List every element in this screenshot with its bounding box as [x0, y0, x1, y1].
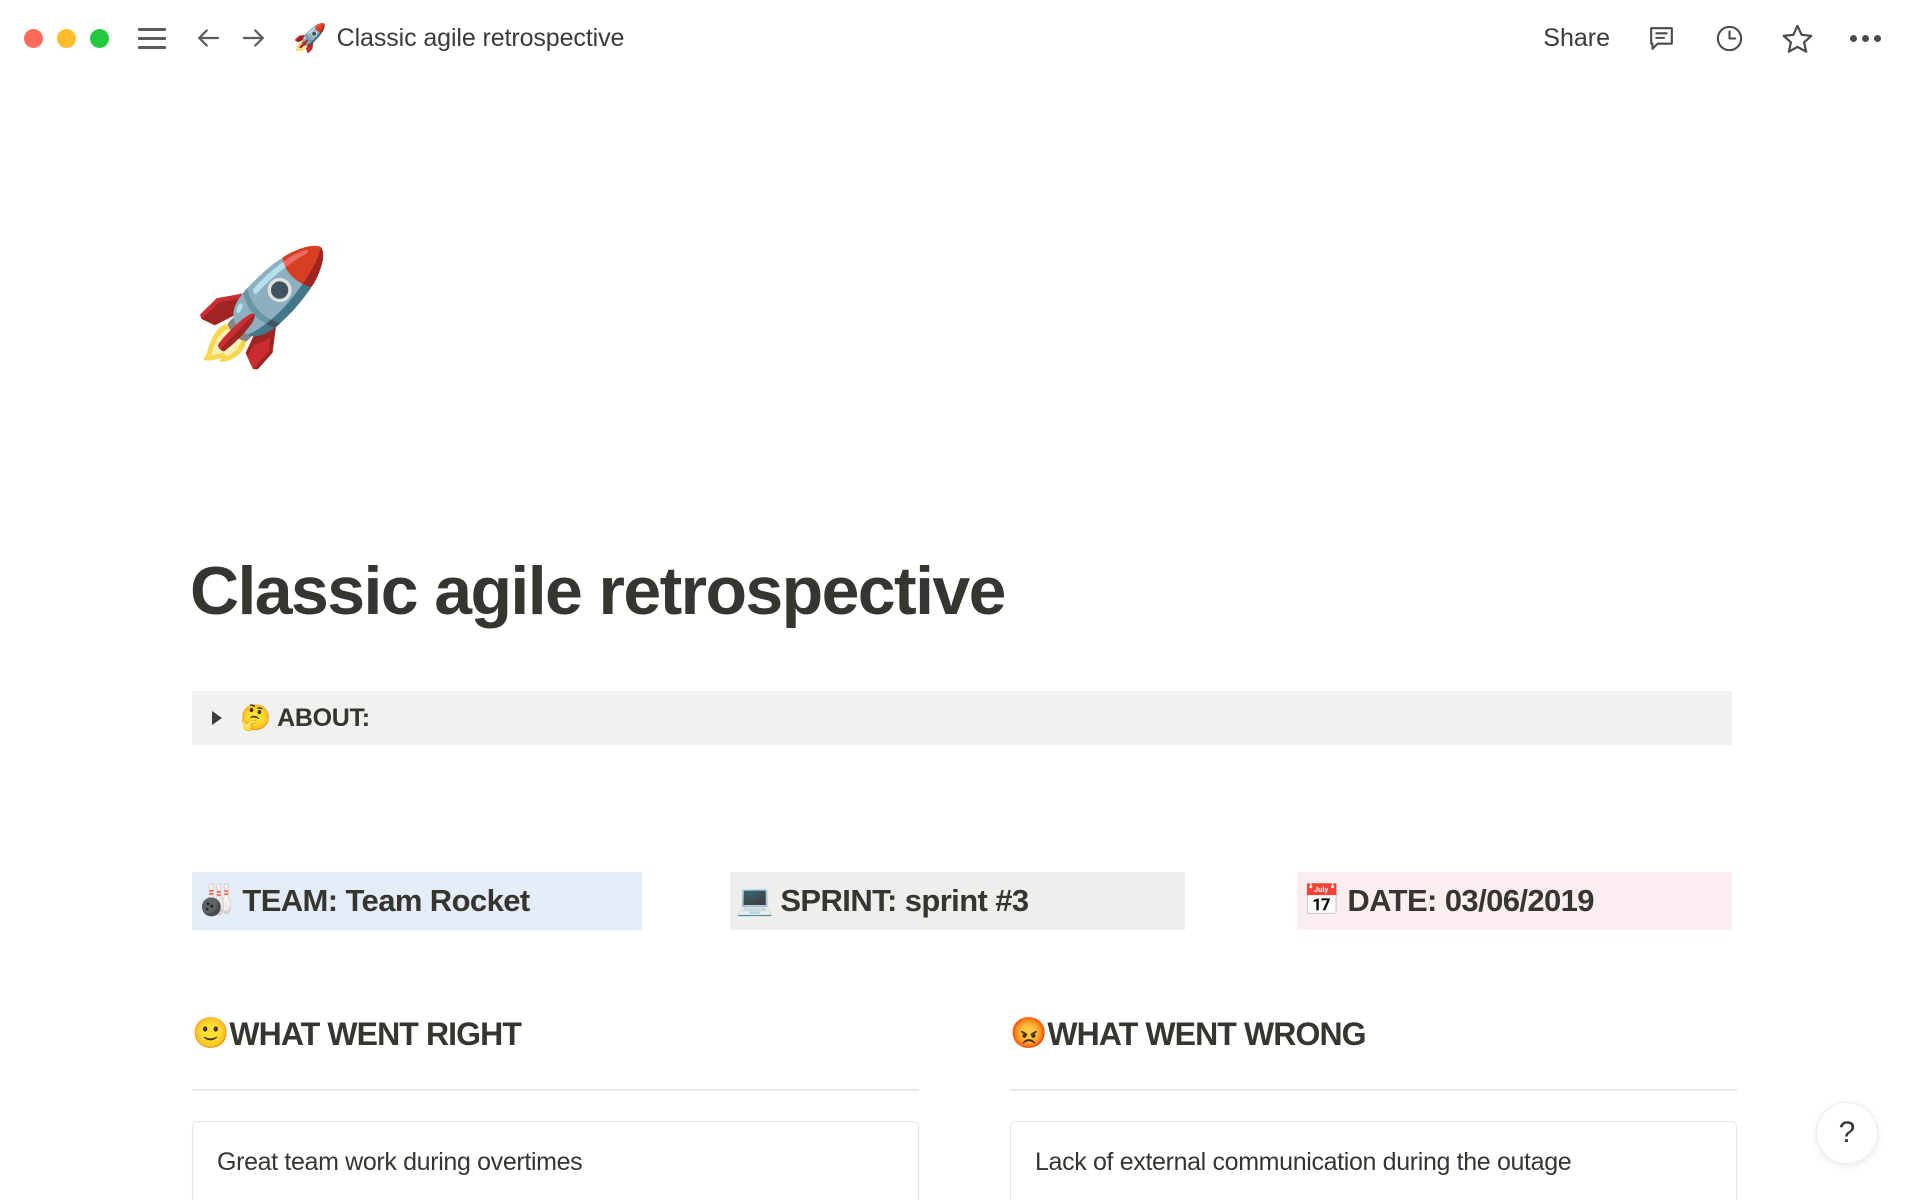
pouting-face-icon: 😡: [1010, 1019, 1047, 1049]
meta-row: 🎳 TEAM: Team Rocket 💻 SPRINT: sprint #3 …: [192, 872, 1732, 930]
meta-chip-sprint-label: SPRINT: sprint #3: [780, 883, 1028, 919]
page-icon-rocket[interactable]: 🚀: [192, 251, 331, 363]
slightly-smiling-face-icon: 🙂: [192, 1019, 229, 1049]
column-heading-wrong-label: WHAT WENT WRONG: [1047, 1016, 1365, 1053]
window-maximize-button[interactable]: [90, 29, 109, 48]
page-title[interactable]: Classic agile retrospective: [190, 552, 1005, 630]
share-button[interactable]: Share: [1543, 24, 1610, 53]
titlebar-actions: Share: [1543, 21, 1882, 55]
titlebar: 🚀 Classic agile retrospective Share: [0, 0, 1920, 76]
rocket-icon: 🚀: [293, 25, 327, 52]
help-button[interactable]: ?: [1816, 1102, 1878, 1164]
calendar-icon: 📅: [1303, 886, 1340, 916]
retro-card[interactable]: Great team work during overtimes ⑤: [192, 1121, 919, 1200]
laptop-icon: 💻: [736, 886, 773, 916]
app-window: 🚀 Classic agile retrospective Share: [0, 0, 1920, 1200]
about-toggle-block[interactable]: 🤔 ABOUT:: [192, 691, 1732, 745]
meta-chip-team[interactable]: 🎳 TEAM: Team Rocket: [192, 872, 642, 930]
window-minimize-button[interactable]: [57, 29, 76, 48]
column-heading-right[interactable]: 🙂 WHAT WENT RIGHT: [192, 1006, 919, 1062]
breadcrumb-title: Classic agile retrospective: [337, 24, 625, 53]
meta-chip-sprint[interactable]: 💻 SPRINT: sprint #3: [730, 872, 1185, 930]
column-heading-right-label: WHAT WENT RIGHT: [229, 1016, 521, 1053]
meta-chip-date-label: DATE: 03/06/2019: [1347, 883, 1594, 919]
chevron-right-icon[interactable]: [212, 711, 222, 725]
history-clock-icon[interactable]: [1712, 21, 1746, 55]
meta-chip-team-label: TEAM: Team Rocket: [242, 883, 529, 919]
divider: [192, 1089, 919, 1091]
column-what-went-wrong: 😡 WHAT WENT WRONG Lack of external commu…: [1010, 1006, 1737, 1200]
comment-icon[interactable]: [1644, 21, 1678, 55]
arrow-right-icon[interactable]: [237, 21, 271, 55]
column-what-went-right: 🙂 WHAT WENT RIGHT Great team work during…: [192, 1006, 919, 1200]
divider: [1010, 1089, 1737, 1091]
about-toggle-label: ABOUT:: [277, 704, 370, 733]
retro-card-text: Lack of external communication during th…: [1035, 1148, 1712, 1177]
window-controls: [24, 29, 109, 48]
thinking-face-icon: 🤔: [240, 706, 271, 731]
column-heading-wrong[interactable]: 😡 WHAT WENT WRONG: [1010, 1006, 1737, 1062]
arrow-left-icon[interactable]: [191, 21, 225, 55]
star-icon[interactable]: [1780, 21, 1814, 55]
hamburger-icon[interactable]: [135, 21, 169, 55]
window-close-button[interactable]: [24, 29, 43, 48]
more-horizontal-icon[interactable]: [1848, 21, 1882, 55]
page-content: 🚀 Classic agile retrospective 🤔 ABOUT: 🎳…: [0, 76, 1920, 1200]
retro-card[interactable]: Lack of external communication during th…: [1010, 1121, 1737, 1200]
meta-chip-date[interactable]: 📅 DATE: 03/06/2019: [1297, 872, 1732, 930]
breadcrumb[interactable]: 🚀 Classic agile retrospective: [293, 24, 624, 53]
bowling-icon: 🎳: [198, 886, 235, 916]
retro-card-text: Great team work during overtimes: [217, 1148, 894, 1177]
